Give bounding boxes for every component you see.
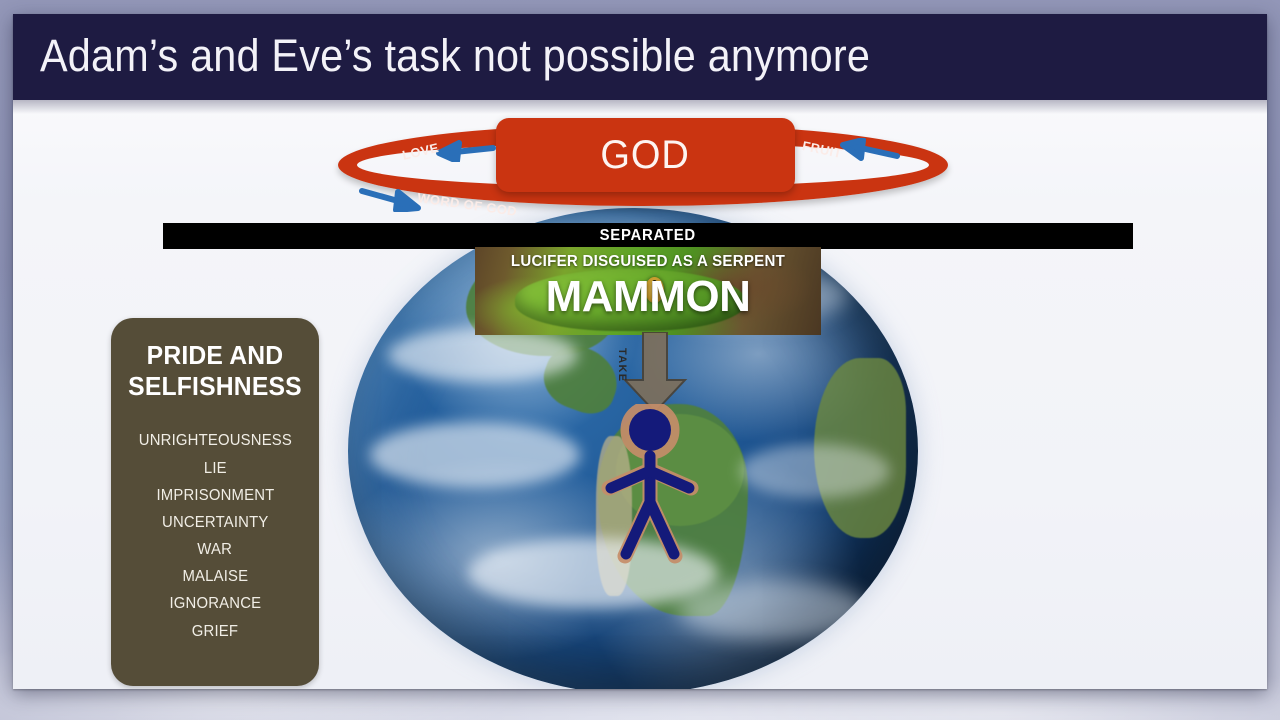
cloud-band-1 bbox=[388, 328, 578, 382]
slide-title-band: Adam’s and Eve’s task not possible anymo… bbox=[13, 14, 1267, 100]
list-item: LIE bbox=[204, 455, 227, 482]
list-item: IGNORANCE bbox=[169, 590, 261, 617]
list-item: IMPRISONMENT bbox=[156, 482, 274, 509]
slide-canvas: Adam’s and Eve’s task not possible anymo… bbox=[13, 14, 1267, 689]
take-label: TAKE bbox=[616, 348, 628, 382]
serpent-caption: LUCIFER DISGUISED AS A SERPENT bbox=[485, 253, 810, 271]
list-item: UNRIGHTEOUSNESS bbox=[138, 427, 291, 454]
separated-label: SEPARATED bbox=[600, 227, 696, 245]
mammon-label: MAMMON bbox=[475, 272, 821, 322]
list-item: GRIEF bbox=[192, 618, 238, 645]
arrow-left-icon-fruit bbox=[839, 138, 901, 162]
page-title: Adam’s and Eve’s task not possible anymo… bbox=[40, 30, 870, 82]
serpent-image-card: LUCIFER DISGUISED AS A SERPENT MAMMON bbox=[475, 247, 821, 335]
list-item: UNCERTAINTY bbox=[162, 509, 268, 536]
cloud-band-5 bbox=[678, 580, 868, 640]
arrow-right-icon-word-of-god bbox=[358, 186, 422, 212]
god-box: GOD bbox=[496, 118, 795, 192]
human-figure-icon bbox=[595, 404, 705, 569]
god-label: GOD bbox=[601, 133, 690, 178]
cloud-band-7 bbox=[740, 444, 890, 498]
cloud-band-2 bbox=[370, 422, 580, 488]
arrow-down-icon-take bbox=[619, 332, 691, 414]
pride-panel-heading: PRIDE AND SELFISHNESS bbox=[116, 340, 314, 401]
separated-bar: SEPARATED bbox=[163, 223, 1133, 249]
pride-selfishness-panel: PRIDE AND SELFISHNESS UNRIGHTEOUSNESS LI… bbox=[111, 318, 319, 686]
list-item: MALAISE bbox=[182, 563, 248, 590]
pride-panel-list: UNRIGHTEOUSNESS LIE IMPRISONMENT UNCERTA… bbox=[111, 427, 319, 645]
list-item: WAR bbox=[198, 536, 233, 563]
arrow-left-icon-love bbox=[435, 140, 497, 162]
